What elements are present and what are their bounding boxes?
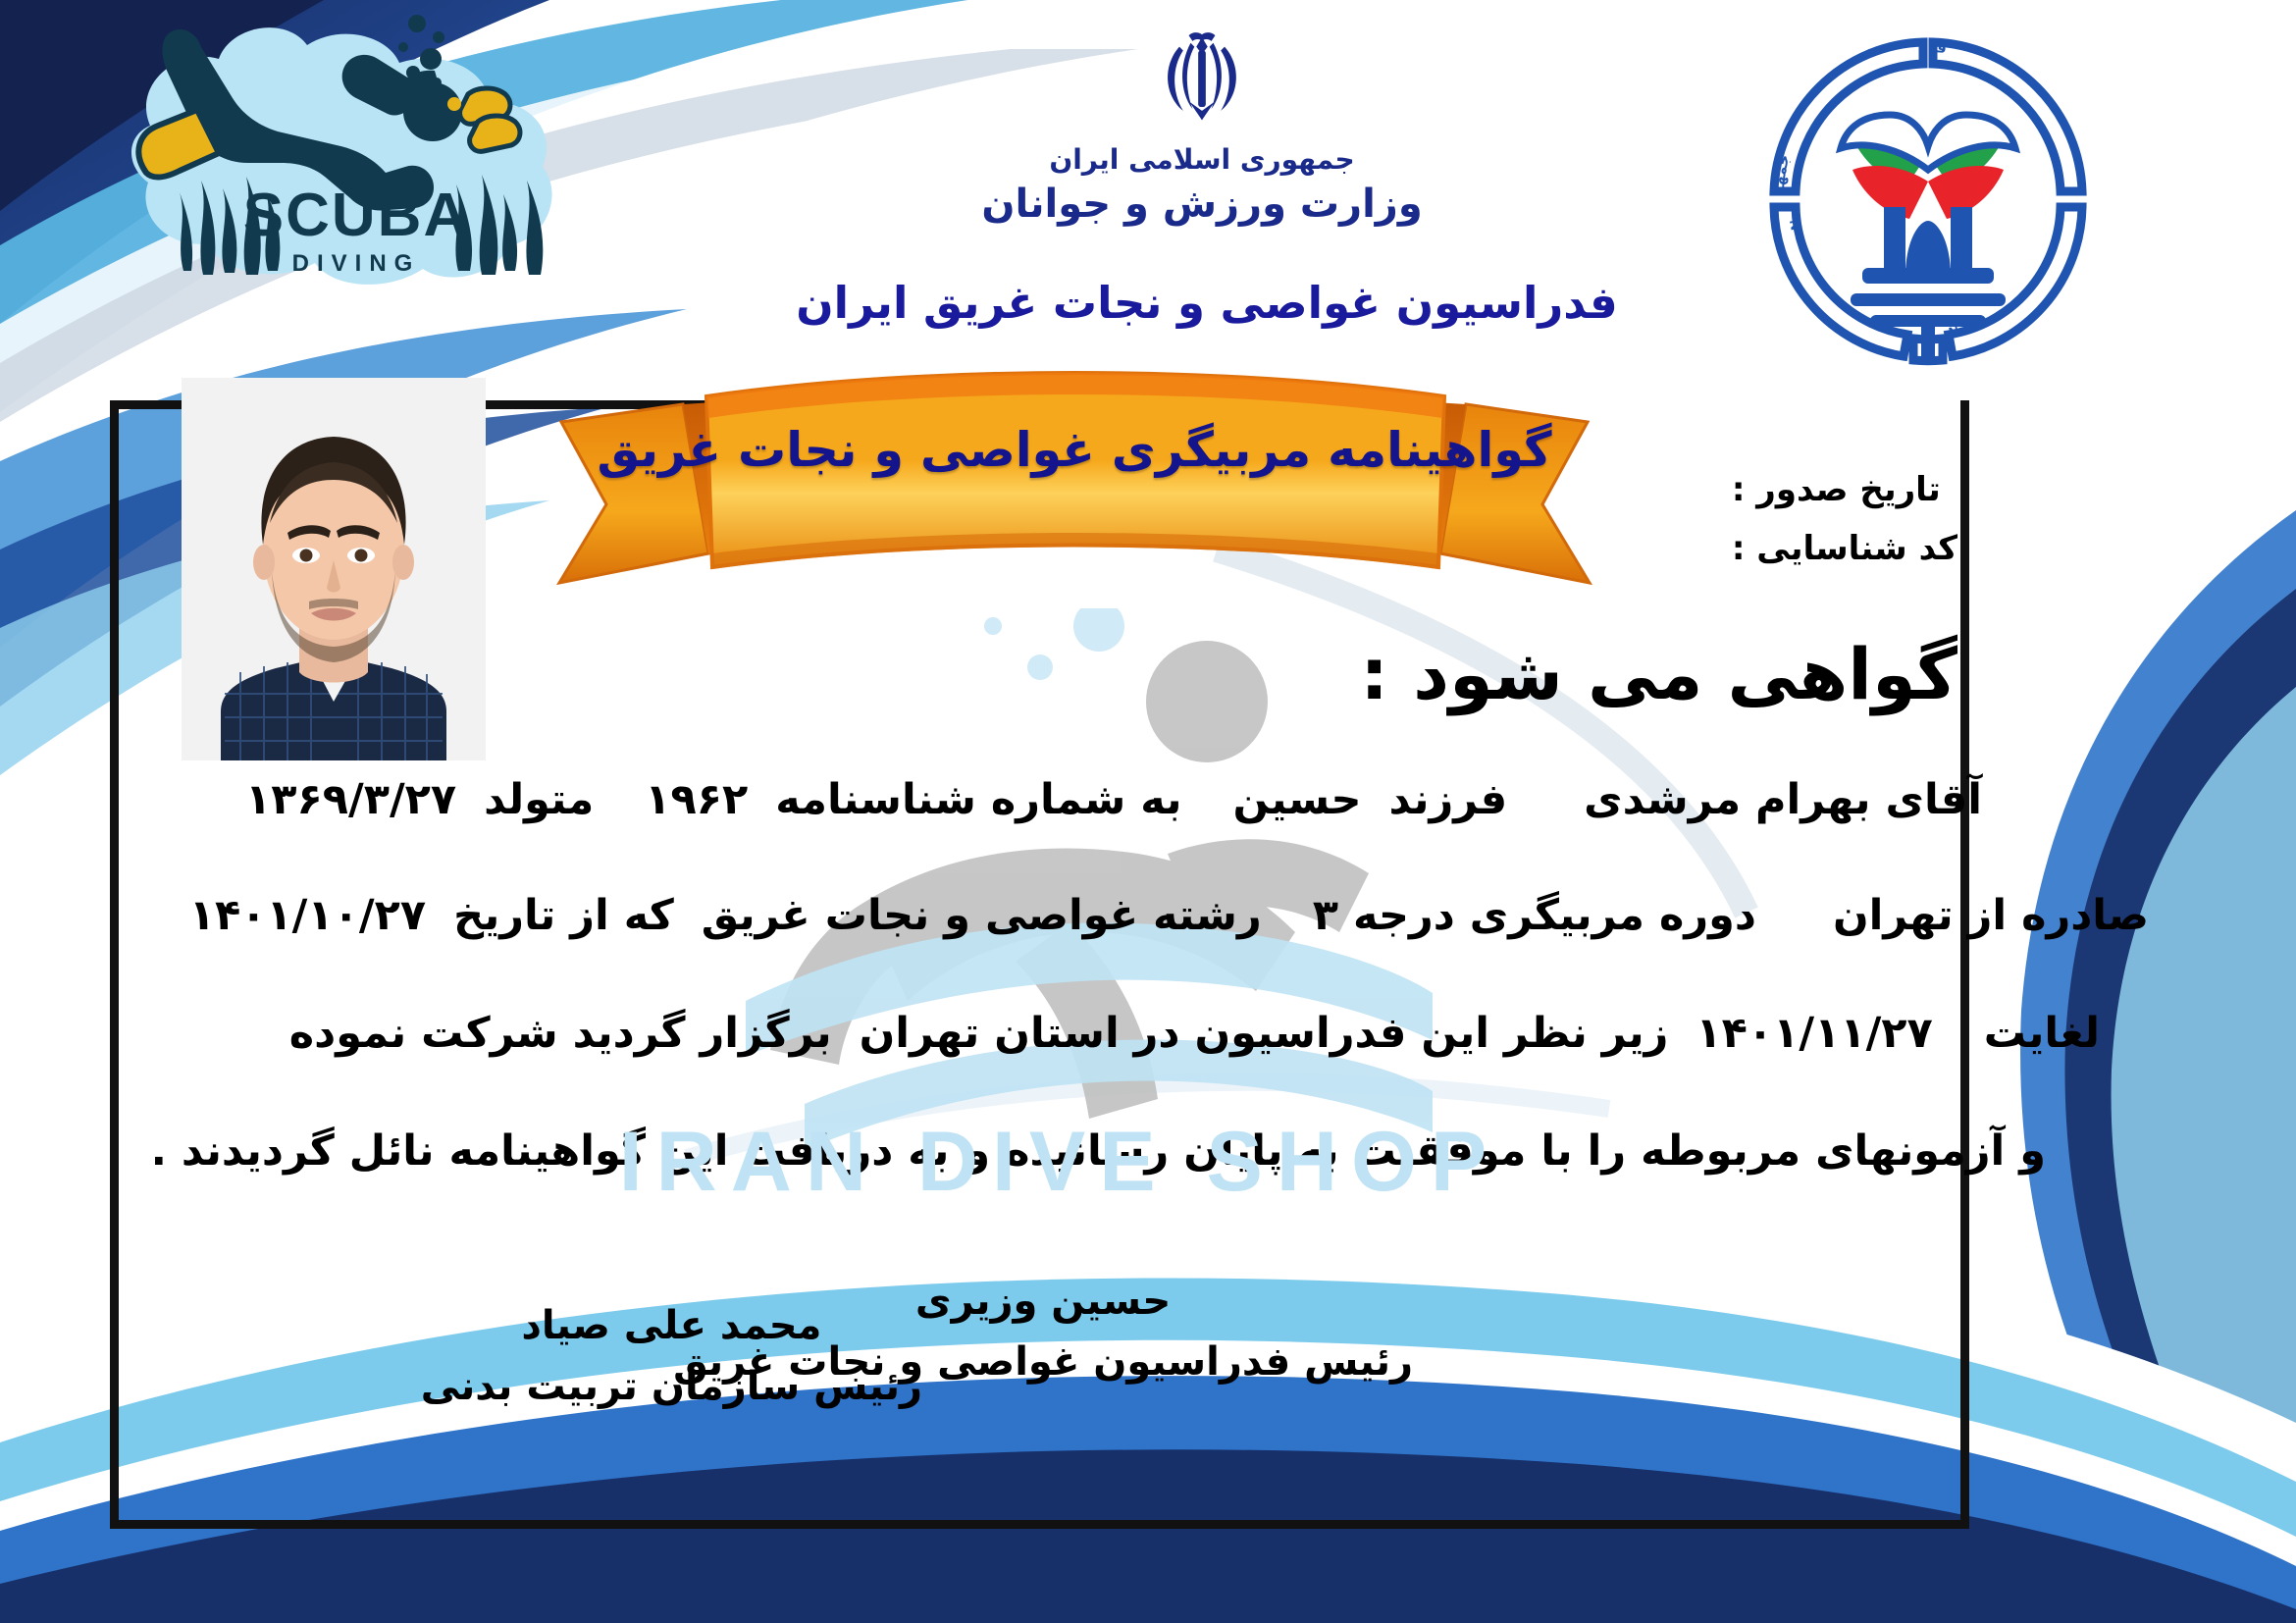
recipient-name: آقای بهرام مرشدی: [1584, 775, 1982, 824]
emblem-text-fa-left: جمهوری اسلامی ایران: [1756, 25, 1794, 196]
federation-emblem-icon: فدراسیون نجات غریق و غواصی جمهوری اسلامی…: [1756, 25, 2100, 368]
signature-title-organization: رئیس سازمان تربیت بدنی: [421, 1356, 922, 1417]
scuba-diving-logo: SCUBA DIVING: [93, 8, 603, 292]
course-field: رشته غواصی و نجات غریق: [702, 891, 1262, 940]
portrait-photo: [182, 378, 486, 760]
ribbon-banner: [549, 361, 1599, 636]
id-code-row: کد شناسایی :: [1732, 520, 1957, 579]
scuba-wordmark: SCUBA: [243, 182, 469, 249]
ribbon-title: گواهینامه مربیگری غواصی و نجات غریق: [549, 422, 1599, 478]
certificate-page: SCUBA DIVING جمهوری اسلامی ایران وزارت و…: [0, 0, 2296, 1623]
from-date-label: که از تاریخ: [453, 891, 674, 940]
issue-date-row: تاریخ صدور :: [1732, 461, 1957, 520]
certificate-meta: تاریخ صدور : کد شناسایی :: [1732, 461, 1957, 578]
signature-block-organization: محمد علی صیاد رئیس سازمان تربیت بدنی: [421, 1295, 922, 1417]
body-line-4: و آزمونهای مربوطه را با موفقیت به پایان …: [151, 1126, 2046, 1176]
until-label: لغایت: [1984, 1009, 2100, 1058]
diving-wordmark: DIVING: [292, 250, 421, 277]
birth-date: ۱۳۶۹/۳/۲۷: [245, 775, 456, 824]
until-date-value: ۱۴۰۱/۱۱/۲۷: [1696, 1009, 1932, 1058]
national-id-number: ۱۹۶۲: [645, 775, 748, 824]
body-line-3: لغایت۱۴۰۱/۱۱/۲۷زیر نظر این فدراسیون در ا…: [289, 1009, 2100, 1058]
national-id-label: به شماره شناسنامه: [775, 775, 1181, 824]
body-line-1: آقای بهرام مرشدیفرزندحسینبه شماره شناسنا…: [245, 775, 1982, 824]
federation-title: فدراسیون غواصی و نجات غریق ایران: [785, 277, 1629, 329]
ministry-header: جمهوری اسلامی ایران وزارت ورزش و جوانان: [971, 29, 1433, 227]
father-label: فرزند: [1389, 775, 1508, 824]
ministry-line-country: جمهوری اسلامی ایران: [971, 143, 1433, 176]
from-date-value: ۱۴۰۱/۱۰/۲۷: [189, 891, 426, 940]
issued-from: صادره از تهران: [1833, 891, 2149, 940]
id-code-label: کد شناسایی :: [1732, 529, 1957, 568]
iran-national-emblem-icon: [1155, 29, 1249, 139]
supervision-text: زیر نظر این فدراسیون در استان تهران: [860, 1009, 1669, 1058]
birth-label: متولد: [484, 775, 594, 824]
emblem-text-en-left: ISLAMIC REPUBLIC OF IRAN: [1756, 25, 1804, 232]
held-text: برگزار گردید شرکت نموده: [289, 1009, 832, 1058]
issue-date-label: تاریخ صدور :: [1732, 470, 1941, 509]
father-name: حسین: [1233, 775, 1362, 824]
page-title: گواهی می شود :: [1360, 633, 1957, 715]
course-name: دوره مربیگری درجه ۳: [1313, 891, 1756, 940]
ministry-line-name: وزارت ورزش و جوانان: [971, 182, 1433, 227]
signature-name-organization: محمد علی صیاد: [421, 1295, 922, 1356]
body-line-2: صادره از تهراندوره مربیگری درجه ۳رشته غو…: [189, 891, 2149, 940]
